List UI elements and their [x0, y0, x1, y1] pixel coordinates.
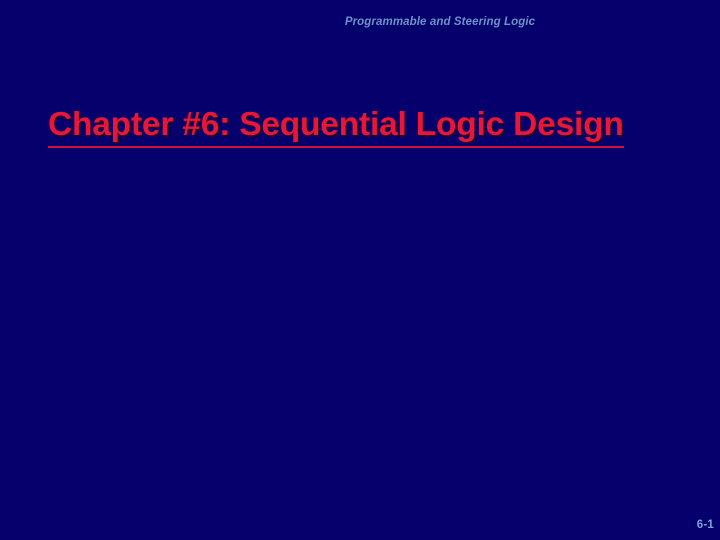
- page-number: 6-1: [697, 519, 714, 532]
- slide-title-block: Chapter #6: Sequential Logic Design: [48, 105, 688, 148]
- slide-running-header: Programmable and Steering Logic: [0, 12, 720, 30]
- slide-canvas: Programmable and Steering Logic Chapter …: [0, 0, 720, 540]
- slide-content-area: [48, 170, 678, 490]
- running-header-text: Programmable and Steering Logic: [345, 15, 535, 29]
- slide-title: Chapter #6: Sequential Logic Design: [48, 105, 624, 148]
